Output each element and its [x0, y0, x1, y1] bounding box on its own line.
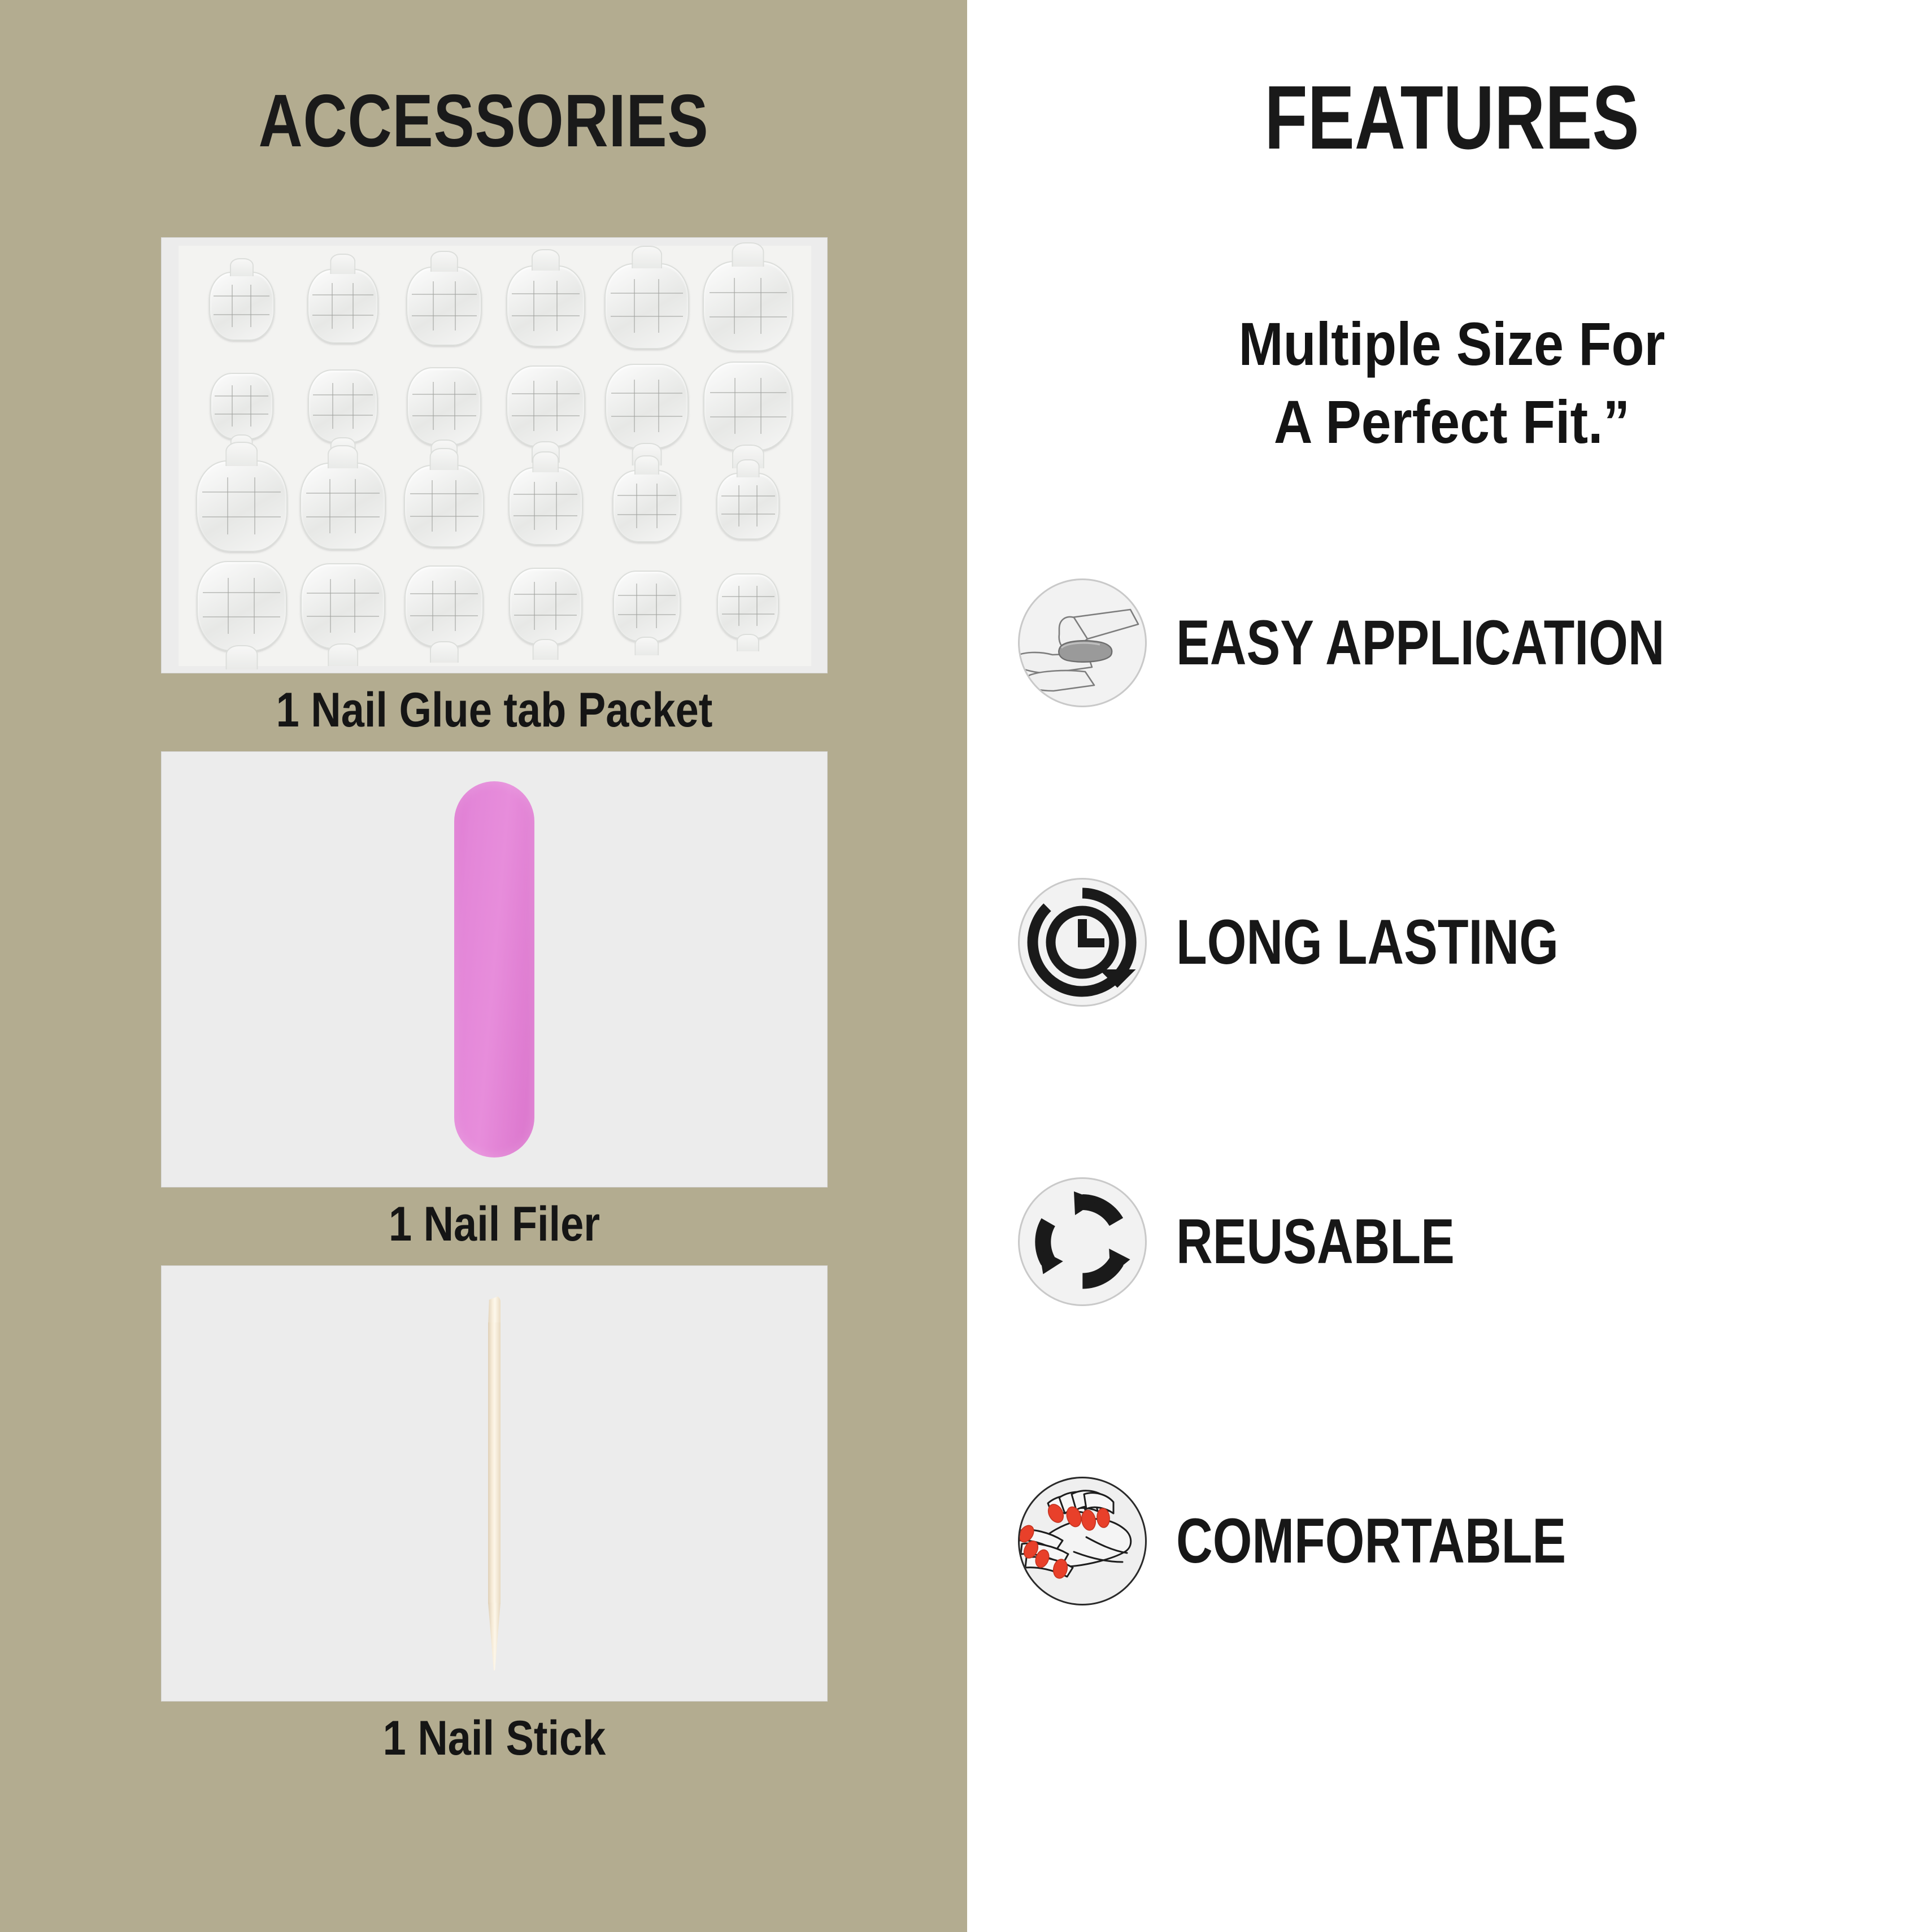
infographic-root: ACCESSORIES: [0, 0, 1932, 1932]
feature-label: EASY APPLICATION: [1176, 611, 1665, 675]
tagline-line-2: A Perfect Fit.”: [1029, 383, 1874, 461]
feature-row-easy-application: EASY APPLICATION: [1018, 577, 1916, 708]
panel-divider: [967, 0, 972, 1932]
clock-refresh-icon: [1018, 878, 1147, 1007]
glue-tab-sheet: [179, 246, 811, 666]
glue-tab: [508, 467, 583, 545]
manicured-hands-icon: [1018, 1477, 1147, 1605]
glue-tab-sheet-photo: [161, 237, 828, 673]
glue-tab-row: [191, 356, 799, 456]
glue-tab: [506, 365, 585, 447]
glue-tab: [308, 369, 378, 443]
glue-tab: [301, 563, 385, 649]
glue-tab: [406, 267, 482, 346]
glue-tab: [509, 568, 582, 645]
accessory-caption: 1 Nail Stick: [208, 1702, 781, 1779]
glue-tab: [197, 561, 287, 651]
glue-tab: [210, 373, 273, 440]
feature-row-long-lasting: LONG LASTING: [1018, 877, 1916, 1008]
accessories-heading: ACCESSORIES: [87, 84, 880, 158]
accessory-caption: 1 Nail Glue tab Packet: [208, 673, 781, 751]
glue-tab-row: [191, 456, 799, 556]
accessories-list: 1 Nail Glue tab Packet 1 Nail Filer: [161, 237, 828, 1779]
accessory-item-nail-filer: 1 Nail Filer: [161, 751, 828, 1265]
glue-tab: [209, 272, 275, 341]
glue-tab: [407, 367, 481, 445]
features-list: EASY APPLICATION LONG LASTING: [1018, 577, 1916, 1607]
glue-tab: [604, 263, 689, 349]
accessories-panel: ACCESSORIES: [0, 0, 967, 1932]
glue-tab: [613, 571, 681, 642]
finger-applying-nail-icon: [1018, 578, 1147, 707]
nail-stick-photo: [161, 1265, 828, 1702]
features-heading: FEATURES: [1077, 72, 1826, 163]
nail-filer-photo: [161, 751, 828, 1187]
feature-label: COMFORTABLE: [1176, 1509, 1566, 1573]
glue-tab: [300, 463, 386, 550]
nail-stick-shaft: [488, 1322, 501, 1604]
feature-row-comfortable: COMFORTABLE: [1018, 1476, 1916, 1607]
glue-tab: [612, 470, 681, 542]
glue-tab: [716, 473, 780, 539]
feature-row-reusable: REUSABLE: [1018, 1176, 1916, 1307]
accessory-caption: 1 Nail Filer: [208, 1187, 781, 1265]
accessory-item-glue-tabs: 1 Nail Glue tab Packet: [161, 237, 828, 751]
accessory-item-nail-stick: 1 Nail Stick: [161, 1265, 828, 1779]
glue-tab-row: [191, 556, 799, 656]
glue-tab: [703, 362, 793, 451]
glue-tab: [196, 460, 288, 552]
recycle-arrows-icon: [1018, 1177, 1147, 1306]
features-tagline: Multiple Size For A Perfect Fit.”: [1029, 305, 1874, 461]
features-panel: FEATURES Multiple Size For A Perfect Fit…: [972, 0, 1932, 1932]
nail-stick-pointed-end: [488, 1603, 501, 1670]
glue-tab: [703, 261, 793, 351]
glue-tab: [307, 269, 378, 343]
glue-tab: [404, 465, 484, 547]
glue-tab: [404, 565, 484, 647]
feature-label: REUSABLE: [1176, 1210, 1455, 1273]
glue-tab: [506, 266, 585, 347]
nail-stick-object: [481, 1291, 507, 1675]
feature-label: LONG LASTING: [1176, 911, 1559, 974]
nail-filer-object: [454, 781, 534, 1158]
glue-tab: [605, 364, 689, 449]
glue-tab: [717, 573, 779, 639]
tagline-line-1: Multiple Size For: [1029, 305, 1874, 383]
glue-tab-row: [191, 256, 799, 356]
